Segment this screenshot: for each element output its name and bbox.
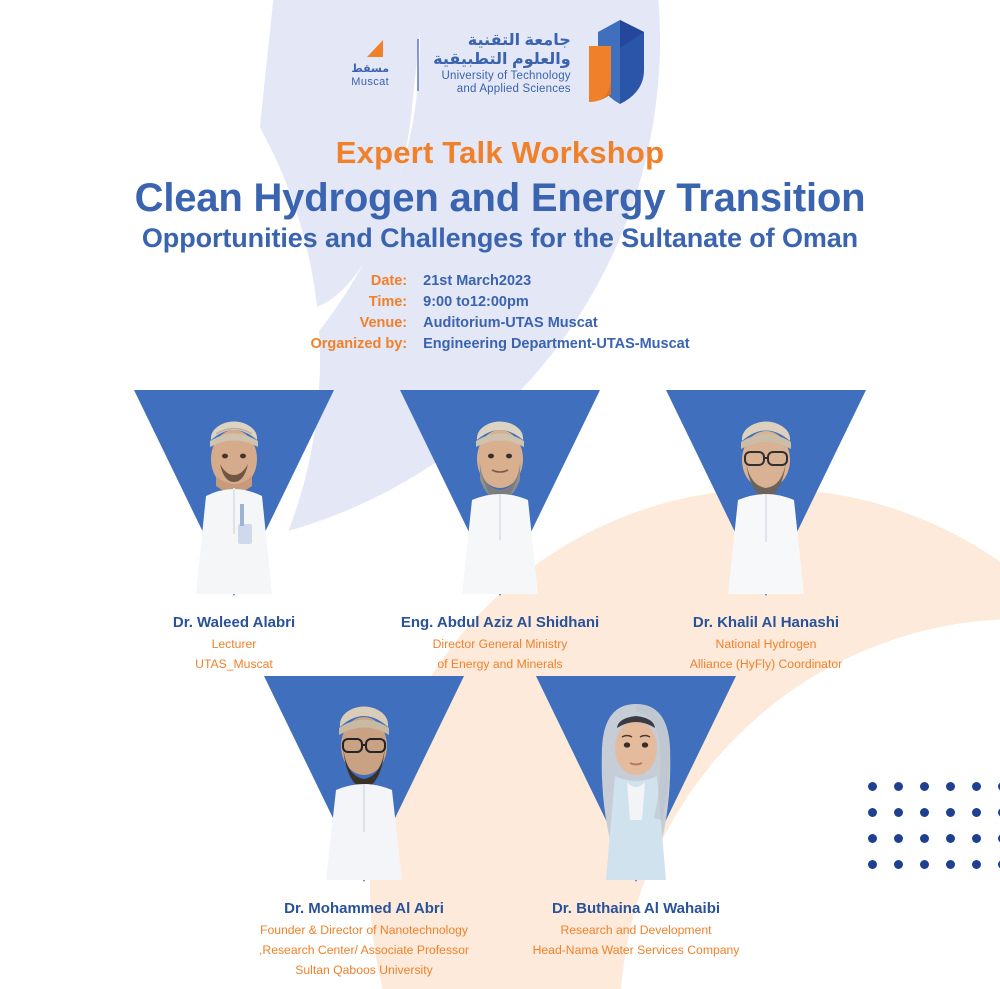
event-details: Date: Time: Venue: Organized by: 21st Ma… [0,271,1000,355]
detail-label-venue: Venue: [310,313,407,334]
speaker-name: Dr. Khalil Al Hanashi [690,614,842,632]
event-detail-values: 21st March2023 9:00 to12:00pm Auditorium… [423,271,689,355]
speaker-photo [400,386,600,608]
kicker-text: Expert Talk Workshop [0,136,1000,170]
portrait-male-bearded-kumma-icon [446,404,554,594]
university-arabic-line1: جامعة التقنية [468,32,571,51]
speaker-photo [666,386,866,608]
speaker-caption: Dr. Khalil Al Hanashi National Hydrogen … [690,614,842,672]
title-block: Expert Talk Workshop Clean Hydrogen and … [0,136,1000,253]
university-english-line2: and Applied Sciences [457,83,571,97]
page-title: Clean Hydrogen and Energy Transition [0,176,1000,221]
speaker-photo [134,386,334,608]
university-english-line1: University of Technology [442,70,571,84]
speaker-caption: Dr. Buthaina Al Wahaibi Research and Dev… [533,900,740,958]
portrait-male-dishdasha-kumma-icon [180,404,288,594]
speakers-row-top: Dr. Waleed Alabri Lecturer UTAS_Muscat [0,386,1000,672]
speaker-caption: Dr. Waleed Alabri Lecturer UTAS_Muscat [173,614,295,672]
detail-value-date: 21st March2023 [423,271,689,292]
detail-value-organizer: Engineering Department-UTAS-Muscat [423,334,689,355]
detail-value-time: 9:00 to12:00pm [423,292,689,313]
speaker-role-line: Alliance (HyFly) Coordinator [690,656,842,672]
page-subtitle: Opportunities and Challenges for the Sul… [0,223,1000,253]
speakers-row-bottom: Dr. Mohammed Al Abri Founder & Director … [0,672,1000,978]
detail-label-date: Date: [310,271,407,292]
muscat-english-label: Muscat [351,75,389,89]
portrait-female-hijab-icon [582,690,690,880]
logo-divider [417,39,419,91]
speaker-caption: Eng. Abdul Aziz Al Shidhani Director Gen… [401,614,599,672]
portrait-male-glasses-kumma-icon [712,404,820,594]
speaker-card: Dr. Buthaina Al Wahaibi Research and Dev… [521,672,751,978]
speaker-role-line: Head-Nama Water Services Company [533,942,740,958]
logo-bar: مسقط Muscat جامعة التقنية والعلوم التطبي… [0,18,1000,111]
speaker-name: Eng. Abdul Aziz Al Shidhani [401,614,599,632]
muscat-arabic-label: مسقط [351,63,389,76]
speaker-role-line: Director General Ministry [401,636,599,652]
speaker-card: Dr. Waleed Alabri Lecturer UTAS_Muscat [119,386,349,672]
speaker-name: Dr. Buthaina Al Wahaibi [533,900,740,918]
university-wordmark: جامعة التقنية والعلوم التطبيقية Universi… [433,32,571,97]
event-detail-labels: Date: Time: Venue: Organized by: [310,271,407,355]
speaker-role-line: Research and Development [533,922,740,938]
speaker-name: Dr. Mohammed Al Abri [259,900,469,918]
university-arabic-line2: والعلوم التطبيقية [433,51,571,70]
speaker-role-line: ,Research Center/ Associate Professor [259,942,469,958]
detail-value-venue: Auditorium-UTAS Muscat [423,313,689,334]
detail-label-organizer: Organized by: [310,334,407,355]
speaker-card: Eng. Abdul Aziz Al Shidhani Director Gen… [385,386,615,672]
speaker-role-line: Lecturer [173,636,295,652]
speaker-card: Dr. Khalil Al Hanashi National Hydrogen … [651,386,881,672]
speaker-caption: Dr. Mohammed Al Abri Founder & Director … [259,900,469,978]
orange-triangle-icon [367,40,383,57]
speaker-role-line: Founder & Director of Nanotechnology [259,922,469,938]
portrait-male-glasses-beard-kumma-icon [310,690,418,880]
detail-label-time: Time: [310,292,407,313]
speaker-name: Dr. Waleed Alabri [173,614,295,632]
muscat-branch-logo: مسقط Muscat [351,40,403,90]
speaker-role-line: of Energy and Minerals [401,656,599,672]
utas-shield-logo-icon [587,18,649,111]
speaker-photo [264,672,464,894]
speaker-role-line: UTAS_Muscat [173,656,295,672]
poster-canvas: مسقط Muscat جامعة التقنية والعلوم التطبي… [0,0,1000,989]
speaker-role-line: Sultan Qaboos University [259,962,469,978]
speaker-photo [536,672,736,894]
speaker-card: Dr. Mohammed Al Abri Founder & Director … [249,672,479,978]
speaker-role-line: National Hydrogen [690,636,842,652]
